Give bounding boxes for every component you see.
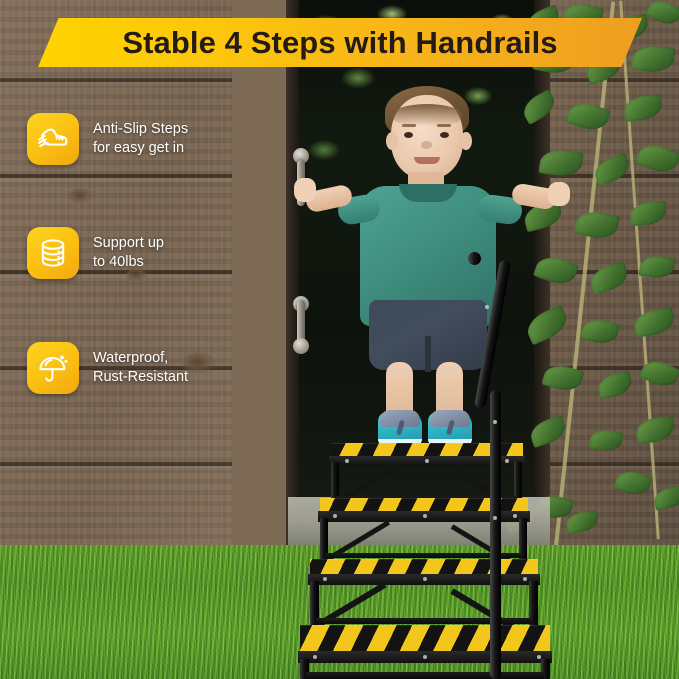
feature-line1: Anti-Slip Steps <box>93 120 188 139</box>
feature-text-waterproof: Waterproof, Rust-Resistant <box>93 349 188 387</box>
feature-line2: to 40lbs <box>93 253 164 272</box>
handrail-bolt-bottom <box>493 516 497 520</box>
feature-line2: for easy get in <box>93 139 188 158</box>
handrail-upper-angled-section <box>474 259 511 409</box>
handrail-top-cap <box>468 252 481 265</box>
sneaker-icon <box>27 113 79 165</box>
feature-item-anti-slip: Anti-Slip Steps for easy get in <box>27 113 188 165</box>
feature-line1: Support up <box>93 234 164 253</box>
feature-line1: Waterproof, <box>93 349 188 368</box>
weight-stack-icon <box>27 227 79 279</box>
step-1-rail <box>306 672 544 679</box>
product-marketing-image: Stable 4 Steps with Handrails Anti-Slip … <box>0 0 679 679</box>
step-2-tread <box>310 559 538 575</box>
feature-text-weight-capacity: Support up to 40lbs <box>93 234 164 272</box>
feature-item-waterproof: Waterproof, Rust-Resistant <box>27 342 188 394</box>
handrail-bolt-upper <box>485 305 489 309</box>
handrail-vertical-post <box>490 390 501 679</box>
banner-title-text: Stable 4 Steps with Handrails <box>122 25 557 61</box>
handrail-bolt-lower <box>493 420 497 424</box>
step-1-tread <box>300 625 550 653</box>
umbrella-icon <box>27 342 79 394</box>
step-stool-product <box>0 0 679 679</box>
title-banner: Stable 4 Steps with Handrails <box>38 18 642 67</box>
feature-text-anti-slip: Anti-Slip Steps for easy get in <box>93 120 188 158</box>
feature-item-weight-capacity: Support up to 40lbs <box>27 227 164 279</box>
feature-line2: Rust-Resistant <box>93 368 188 387</box>
